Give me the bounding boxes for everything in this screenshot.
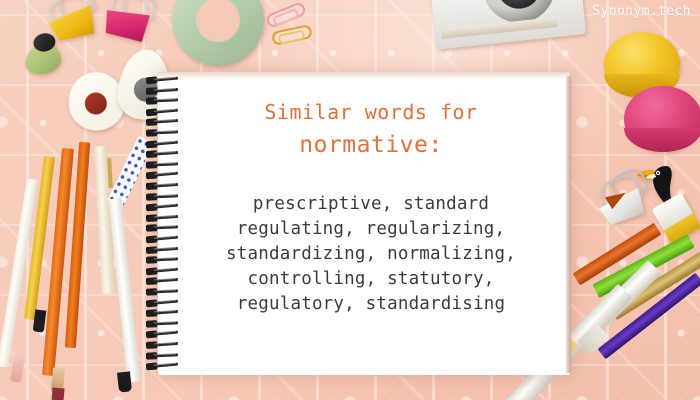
spiral-coil	[146, 160, 178, 168]
title-prefix: Similar words for	[180, 100, 562, 124]
spiral-coil	[146, 276, 178, 285]
spiral-coil	[146, 192, 178, 200]
synonym-line: prescriptive, standard	[180, 192, 562, 217]
spiral-coil	[146, 75, 178, 85]
spiral-coil	[146, 224, 178, 232]
notebook-page-edge	[566, 76, 571, 373]
spiral-coil	[146, 117, 178, 126]
spiral-coil	[146, 170, 178, 180]
spiral-coil	[146, 319, 178, 327]
synonym-line: standardizing, normalizing,	[180, 242, 562, 267]
notebook-content: Similar words for normative: prescriptiv…	[180, 86, 562, 317]
spiral-coil	[146, 106, 178, 116]
desk-object-pink-binder-clip	[100, 0, 163, 53]
spiral-coil	[146, 202, 178, 212]
spiral-coil	[146, 213, 178, 222]
spiral-coil	[146, 265, 178, 275]
synonym-line: regulatory, standardising	[180, 292, 562, 317]
spiral-coil	[146, 329, 178, 339]
spiral-coil	[146, 340, 178, 349]
spiral-coil	[146, 181, 178, 190]
headword: normative:	[180, 132, 562, 158]
spiral-coil	[146, 96, 178, 104]
spiral-coil	[146, 149, 178, 158]
spiral-coil	[146, 245, 178, 254]
spiral-coil	[146, 234, 178, 244]
site-watermark: Synonym.tech	[592, 4, 691, 19]
spiral-coil	[146, 86, 178, 95]
spiral-coil	[146, 308, 178, 317]
spiral-coil	[146, 255, 178, 263]
spiral-coil	[146, 138, 178, 148]
spiral-coil	[146, 361, 178, 371]
spiral-coil	[146, 351, 178, 359]
spiral-coil	[146, 287, 178, 295]
synonym-line: regulating, regularizing,	[180, 217, 562, 242]
notebook-spiral-binding	[146, 76, 182, 374]
spiral-coil	[146, 128, 178, 136]
screenshot-root: Similar words for normative: prescriptiv…	[0, 0, 700, 400]
desk-object-bird-eraser	[16, 28, 71, 83]
notebook-page-top-shade	[158, 72, 570, 79]
spiral-coil	[146, 297, 178, 307]
synonym-line: controlling, statutory,	[180, 267, 562, 292]
synonym-list: prescriptive, standardregulating, regula…	[180, 192, 562, 317]
